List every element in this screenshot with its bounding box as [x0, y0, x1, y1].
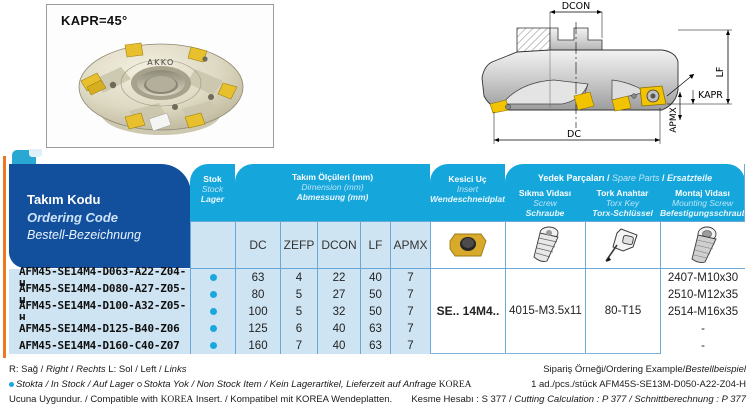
legend-korea-brand: KOREA [439, 380, 472, 390]
table-row-stock-status [190, 286, 235, 303]
insert-value-cell: SE.. 14M4.. [430, 269, 505, 353]
table-row-dcon: 40 [317, 320, 360, 337]
mounting-label-de: Befestigungsschraube [660, 208, 745, 218]
non-stock-dot-icon [137, 382, 142, 387]
bookmark-notch-icon [29, 149, 42, 157]
face-mill-cutter-photo-icon: AKKO [63, 25, 259, 145]
cutter-dimension-drawing-icon: DCON [462, 0, 756, 152]
spare-parts-label-tr: Yedek Parçaları [538, 173, 605, 183]
in-stock-dot-icon [210, 308, 217, 315]
table-row-stock-status [190, 320, 235, 337]
table-row-apmx: 7 [390, 286, 430, 303]
legend-l-de: Links [164, 364, 186, 375]
table-row-dcon: 22 [317, 269, 360, 286]
subheader-lf: LF [360, 222, 390, 268]
footer-hand-legend: R: Sağ / Right / Rechts L: Sol / Left / … [9, 364, 186, 375]
table-row-dc: 160 [235, 337, 280, 354]
left-orange-accent-bar [3, 156, 6, 358]
order-example-label: Sipariş Örneği/Ordering Example/ [543, 364, 685, 375]
table-row-lf: 63 [360, 320, 390, 337]
table-row-mounting-screw: - [660, 337, 745, 354]
subheader-insert-image [430, 222, 505, 268]
table-row-stock-status [190, 269, 235, 286]
table-row-dc: 100 [235, 303, 280, 320]
stock-label-en: Stock [190, 184, 235, 194]
subheader-dcon: DCON [317, 222, 360, 268]
column-group-screw: Sıkma Vidası Screw Schraube [505, 186, 585, 222]
legend-l: L: Sol / Left / [106, 364, 165, 375]
legend-non-stock: Stokta Yok / Non Stock Item / Kein Lager… [144, 379, 437, 390]
table-row-ordering-code: AFM45-SE14M4-D125-B40-Z06 [9, 320, 190, 337]
cutting-calculation-note: Kesme Hesabı : S 377 / Cutting Calculati… [411, 394, 746, 405]
svg-text:DC: DC [567, 129, 581, 140]
spare-parts-label-de: Ersatzteile [667, 173, 712, 183]
insert-icon [448, 230, 488, 260]
table-row-stock-status [190, 337, 235, 354]
subheader-torx-key-image [585, 222, 660, 268]
table-row-zefp: 5 [280, 286, 317, 303]
dimension-label-de: Abmessung (mm) [235, 192, 430, 202]
in-stock-dot-icon [210, 342, 217, 349]
svg-text:LF: LF [715, 67, 726, 78]
table-row-mounting-screw: - [660, 320, 745, 337]
in-stock-dot-icon [9, 382, 14, 387]
table-row-dc: 125 [235, 320, 280, 337]
ordering-example-title: Sipariş Örneği/Ordering Example/Bestellb… [543, 364, 746, 375]
table-row-dcon: 32 [317, 303, 360, 320]
legend-in-stock: Stokta / In Stock / Auf Lager [16, 379, 134, 390]
product-photo-panel: KAPR=45° [46, 4, 274, 148]
spare-sep-2: / [660, 173, 668, 183]
compat-text-a: Ucuna Uygundur. / Compatible with [9, 394, 161, 405]
subheader-dc: DC [235, 222, 280, 268]
table-row-mounting-screw: 2407-M10x30 [660, 269, 745, 286]
svg-text:DCON: DCON [562, 1, 591, 12]
mounting-label-en: Mounting Screw [660, 198, 745, 208]
column-group-stock: Stok Stock Lager [190, 164, 235, 222]
cutting-calc-en-de: Cutting Calculation : P 377 / Schnittber… [514, 394, 746, 405]
spare-sep-1: / [604, 173, 612, 183]
screw-label-de: Schraube [505, 208, 585, 218]
ordering-code-header-panel: Takım Kodu Ordering Code Bestell-Bezeich… [9, 164, 191, 268]
stock-label-tr: Stok [190, 174, 235, 184]
in-stock-dot-icon [210, 325, 217, 332]
spare-parts-label-en: Spare Parts [612, 173, 660, 183]
footer-stock-legend: Stokta / In Stock / Auf Lager Stokta Yok… [9, 379, 472, 390]
svg-text:AKKO: AKKO [147, 58, 174, 67]
legend-r-de: Rechts [76, 364, 106, 375]
mounting-label-tr: Montaj Vidası [660, 188, 745, 198]
column-group-spare-parts: Yedek Parçaları / Spare Parts / Ersatzte… [505, 164, 745, 186]
column-group-torx-key: Tork Anahtar Torx Key Torx-Schlüssel [585, 186, 660, 222]
ordering-code-label-de: Bestell-Bezeichnung [27, 228, 141, 242]
screw-value-cell: 4015-M3.5x11 [505, 269, 585, 353]
torx-key-value-cell: 80-T15 [585, 269, 660, 353]
torx-label-en: Torx Key [585, 198, 660, 208]
compat-text-b: Insert. / Kompatibel mit KOREA Wendeplat… [193, 394, 392, 405]
table-row-stock-status [190, 303, 235, 320]
subheader-mounting-screw-image [660, 222, 745, 268]
footer-compatibility-note: Ucuna Uygundur. / Compatible with KOREA … [9, 394, 392, 405]
screw-label-en: Screw [505, 198, 585, 208]
in-stock-dot-icon [210, 274, 217, 281]
torx-label-de: Torx-Schlüssel [585, 208, 660, 218]
insert-label-en: Insert [430, 184, 505, 194]
insert-label-de: Wendeschneidplatte [430, 194, 505, 204]
table-row-lf: 40 [360, 269, 390, 286]
table-row-lf: 63 [360, 337, 390, 354]
table-row-dc: 80 [235, 286, 280, 303]
ordering-code-label-tr: Takım Kodu [27, 192, 100, 207]
ordering-example-value: 1 ad./pcs./stück AFM45S-SE13M-D050-A22-Z… [531, 379, 746, 390]
table-row-lf: 50 [360, 286, 390, 303]
subheader-zefp: ZEFP [280, 222, 317, 268]
svg-text:KAPR: KAPR [698, 90, 723, 101]
ordering-code-label-en: Ordering Code [27, 210, 118, 225]
subheader-stock-blank [190, 222, 235, 268]
order-example-label-de: Bestellbeispiel [685, 364, 746, 375]
table-row-apmx: 7 [390, 320, 430, 337]
table-row-zefp: 5 [280, 303, 317, 320]
product-specification-table: Takım Kodu Ordering Code Bestell-Bezeich… [0, 150, 756, 362]
column-group-insert: Kesici Uç Insert Wendeschneidplatte [430, 164, 505, 222]
screw-label-tr: Sıkma Vidası [505, 188, 585, 198]
table-row-dcon: 40 [317, 337, 360, 354]
table-row-apmx: 7 [390, 337, 430, 354]
dimension-label-tr: Takım Ölçüleri (mm) [235, 172, 430, 182]
mounting-screw-icon [686, 225, 720, 265]
legend-r-tr: R: Sağ / [9, 364, 46, 375]
table-row-zefp: 6 [280, 320, 317, 337]
svg-text:APMX: APMX [669, 107, 679, 133]
table-row-dc: 63 [235, 269, 280, 286]
subheader-screw-image [505, 222, 585, 268]
subheader-apmx: APMX [390, 222, 430, 268]
table-row-zefp: 7 [280, 337, 317, 354]
column-group-dimension: Takım Ölçüleri (mm) Dimension (mm) Abmes… [235, 164, 430, 222]
cutting-calc-tr: Kesme Hesabı : S 377 / [411, 394, 514, 405]
table-row-lf: 50 [360, 303, 390, 320]
table-row-ordering-code: AFM45-SE14M4-D100-A32-Z05-H [9, 303, 190, 320]
top-illustrations: KAPR=45° [0, 0, 756, 152]
technical-drawing-panel: DCON [462, 0, 756, 152]
table-row-mounting-screw: 2510-M12x35 [660, 286, 745, 303]
in-stock-dot-icon [210, 291, 217, 298]
compat-korea: KOREA [161, 395, 194, 405]
legend-sep-1: / [68, 364, 76, 375]
table-row-mounting-screw: 2514-M16x35 [660, 303, 745, 320]
legend-r-en: Right [46, 364, 68, 375]
dimension-label-en: Dimension (mm) [235, 182, 430, 192]
footer-notes: R: Sağ / Right / Rechts L: Sol / Left / … [0, 364, 756, 418]
table-row-apmx: 7 [390, 303, 430, 320]
torx-label-tr: Tork Anahtar [585, 188, 660, 198]
table-row-apmx: 7 [390, 269, 430, 286]
screw-icon [529, 225, 563, 265]
table-row-zefp: 4 [280, 269, 317, 286]
table-row-dcon: 27 [317, 286, 360, 303]
column-group-mounting-screw: Montaj Vidası Mounting Screw Befestigung… [660, 186, 745, 222]
insert-label-tr: Kesici Uç [430, 174, 505, 184]
torx-key-icon [601, 225, 645, 265]
stock-label-de: Lager [190, 194, 235, 204]
table-row-ordering-code: AFM45-SE14M4-D160-C40-Z07 [9, 337, 190, 354]
